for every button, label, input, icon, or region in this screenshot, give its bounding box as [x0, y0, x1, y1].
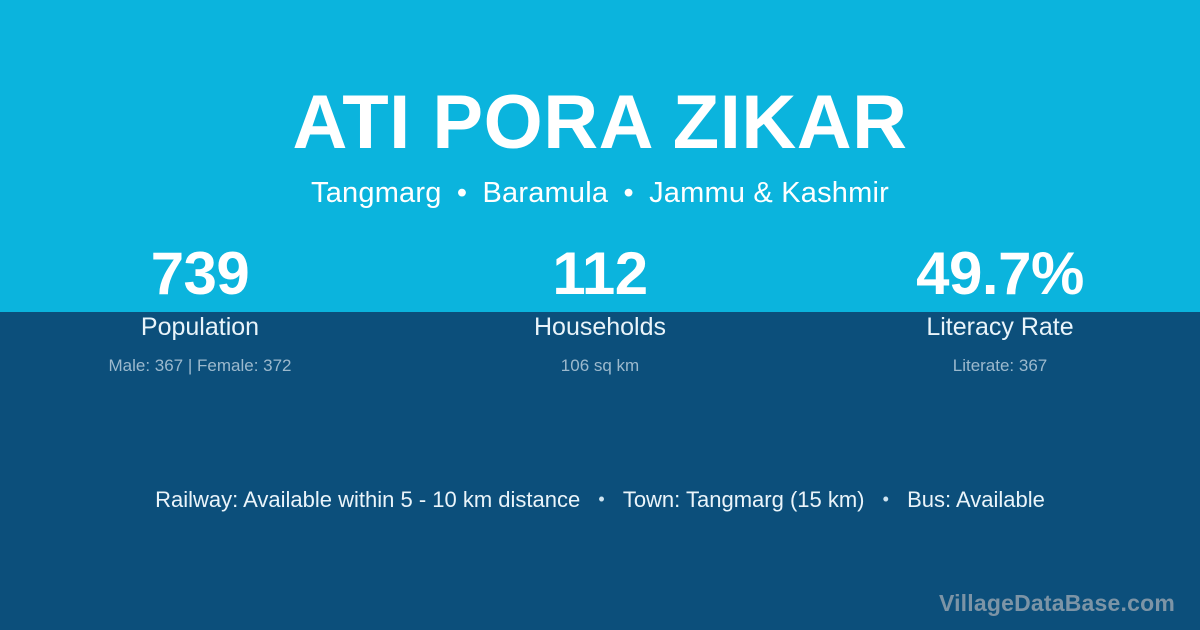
stat-households: 112 Households 106 sq km: [400, 241, 800, 377]
stat-sublabel: Male: 367 | Female: 372: [0, 342, 400, 377]
stat-sublabel: 106 sq km: [400, 342, 800, 377]
infrastructure-summary: Railway: Available within 5 - 10 km dist…: [0, 483, 1200, 516]
breadcrumb-separator-icon: •: [450, 176, 474, 210]
stat-label: Households: [400, 307, 800, 342]
stat-label: Population: [0, 307, 400, 342]
site-watermark: VillageDataBase.com: [939, 590, 1175, 616]
breadcrumb-district: Baramula: [482, 177, 608, 209]
infra-item-town: Town: Tangmarg (15 km): [623, 484, 865, 516]
infra-separator-icon: •: [871, 483, 901, 515]
infra-separator-icon: •: [586, 483, 616, 515]
stat-literacy-rate: 49.7% Literacy Rate Literate: 367: [800, 241, 1200, 377]
stat-label: Literacy Rate: [800, 307, 1200, 342]
stat-value: 112: [400, 241, 800, 307]
breadcrumb: Tangmarg • Baramula • Jammu & Kashmir: [0, 163, 1200, 210]
stat-value: 739: [0, 241, 400, 307]
stat-value: 49.7%: [800, 241, 1200, 307]
hero-section: ATI PORA ZIKAR Tangmarg • Baramula • Jam…: [0, 0, 1200, 210]
breadcrumb-separator-icon: •: [616, 176, 640, 210]
breadcrumb-state: Jammu & Kashmir: [649, 177, 889, 209]
statistics-row: 739 Population Male: 367 | Female: 372 1…: [0, 241, 1200, 377]
infra-item-railway: Railway: Available within 5 - 10 km dist…: [155, 484, 580, 516]
infra-item-bus: Bus: Available: [907, 484, 1045, 516]
stat-sublabel: Literate: 367: [800, 342, 1200, 377]
village-info-card: ATI PORA ZIKAR Tangmarg • Baramula • Jam…: [0, 0, 1200, 630]
stat-population: 739 Population Male: 367 | Female: 372: [0, 241, 400, 377]
breadcrumb-block: Tangmarg: [311, 177, 442, 209]
page-title: ATI PORA ZIKAR: [0, 0, 1200, 163]
